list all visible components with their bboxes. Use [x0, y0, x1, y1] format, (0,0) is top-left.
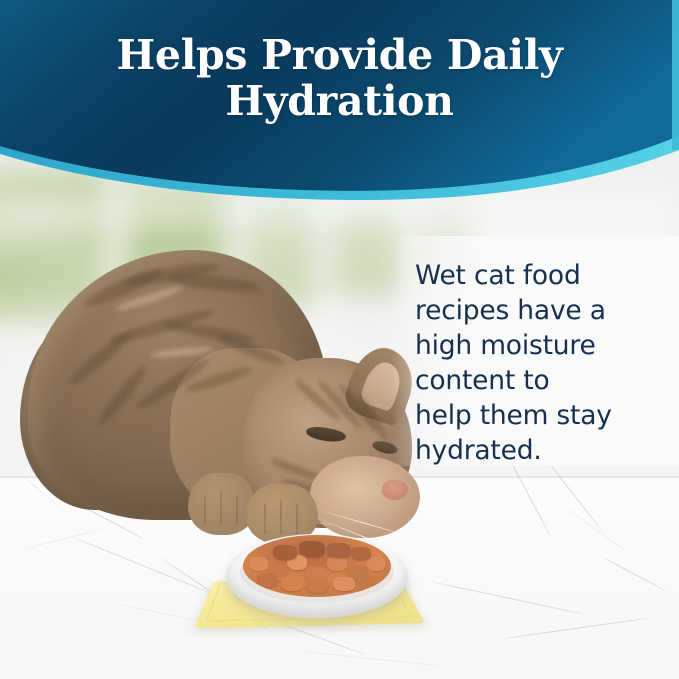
- body-copy-line5: help them stay: [415, 398, 667, 433]
- banner-title: Helps Provide Daily Hydration: [0, 32, 679, 124]
- body-copy-line3: high moisture: [415, 328, 667, 363]
- body-copy-line6: hydrated.: [415, 433, 667, 468]
- banner-title-line2: Hydration: [0, 78, 679, 124]
- cat-illustration: [20, 228, 420, 568]
- body-copy-line2: recipes have a: [415, 293, 667, 328]
- body-copy: Wet cat food recipes have a high moistur…: [415, 258, 667, 468]
- cat-paw-left: [188, 473, 256, 535]
- poster: Helps Provide Daily Hydration Wet cat fo…: [0, 0, 679, 679]
- wet-cat-food: [243, 535, 391, 597]
- body-copy-line4: content to: [415, 363, 667, 398]
- banner-title-line1: Helps Provide Daily: [116, 31, 562, 79]
- body-copy-line1: Wet cat food: [415, 258, 667, 293]
